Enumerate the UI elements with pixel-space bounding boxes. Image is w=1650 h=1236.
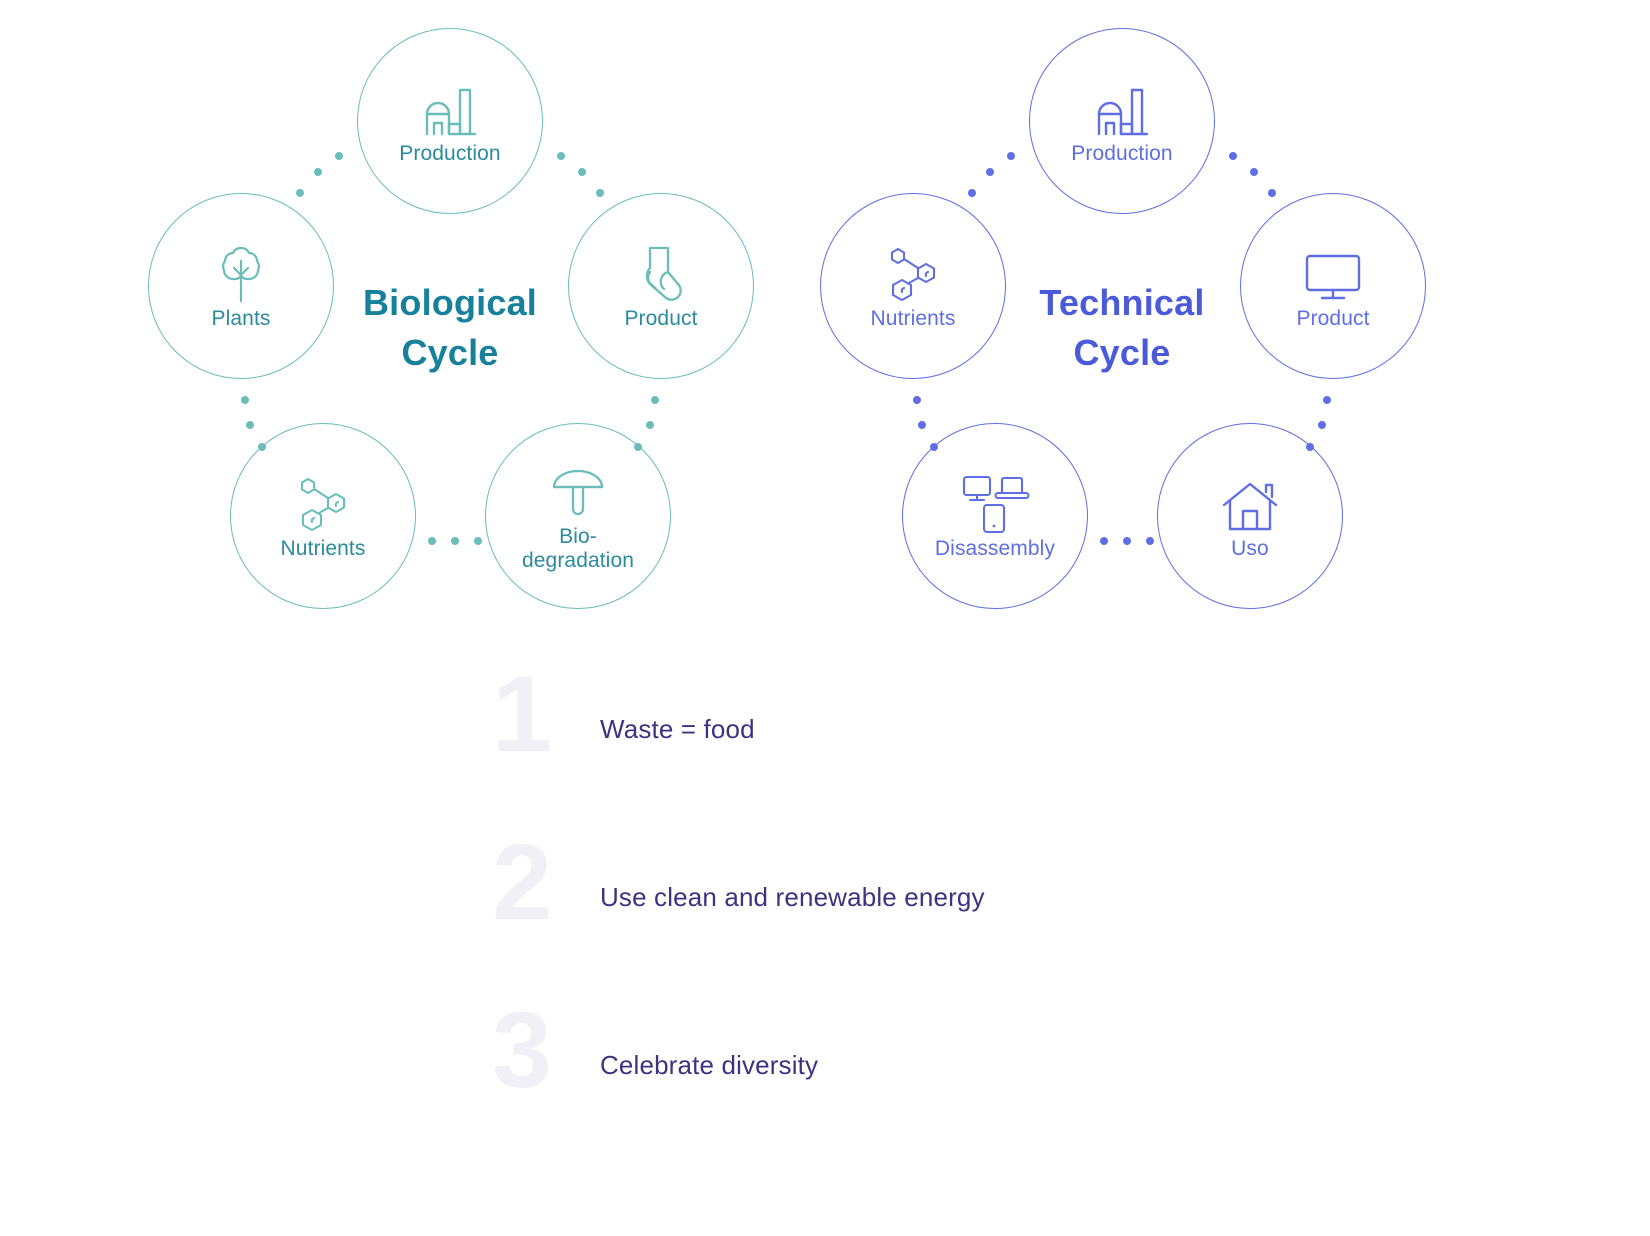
principle-text: Use clean and renewable energy [600,882,985,913]
monitor-icon [1300,241,1366,303]
principle-number: 2 [480,828,564,936]
node-uso[interactable]: Uso [1157,423,1343,609]
node-label: Bio- degradation [522,525,634,573]
node-label: Disassembly [935,537,1055,561]
factory-icon [1089,76,1155,138]
node-label: Production [1071,142,1172,166]
node-production[interactable]: Production [1029,28,1215,214]
node-label: Uso [1231,537,1269,561]
molecule-icon [290,471,356,533]
node-production[interactable]: Production [357,28,543,214]
biological-cycle-title: Biological Cycle [300,278,600,377]
node-label: Production [399,142,500,166]
node-biodegradation[interactable]: Bio- degradation [485,423,671,609]
technical-cycle-diagram: Production Nutrients [812,28,1432,638]
cycle-title-line1: Technical [972,278,1272,328]
list-item: 2 Use clean and renewable energy [480,846,1480,1014]
node-label: Nutrients [871,307,956,331]
node-label: Product [1296,307,1369,331]
cycle-title-line2: Cycle [972,328,1272,378]
tree-icon [208,241,274,303]
mushroom-icon [545,459,611,521]
factory-icon [417,76,483,138]
node-label: Nutrients [281,537,366,561]
house-icon [1217,471,1283,533]
node-label: Product [624,307,697,331]
principle-number: 3 [480,996,564,1104]
principle-number: 1 [480,660,564,768]
sock-icon [628,241,694,303]
infographic-canvas: Production Plants Product [0,0,1650,1236]
node-label: Plants [212,307,271,331]
devices-icon [962,471,1028,533]
cycle-title-line1: Biological [300,278,600,328]
list-item: 1 Waste = food [480,678,1480,846]
principle-text: Waste = food [600,714,755,745]
principle-text: Celebrate diversity [600,1050,818,1081]
node-disassembly[interactable]: Disassembly [902,423,1088,609]
biological-cycle-diagram: Production Plants Product [140,28,760,638]
principles-list: 1 Waste = food 2 Use clean and renewable… [480,678,1480,1182]
molecule-icon [880,241,946,303]
cycle-title-line2: Cycle [300,328,600,378]
technical-cycle-title: Technical Cycle [972,278,1272,377]
list-item: 3 Celebrate diversity [480,1014,1480,1182]
node-nutrients[interactable]: Nutrients [230,423,416,609]
